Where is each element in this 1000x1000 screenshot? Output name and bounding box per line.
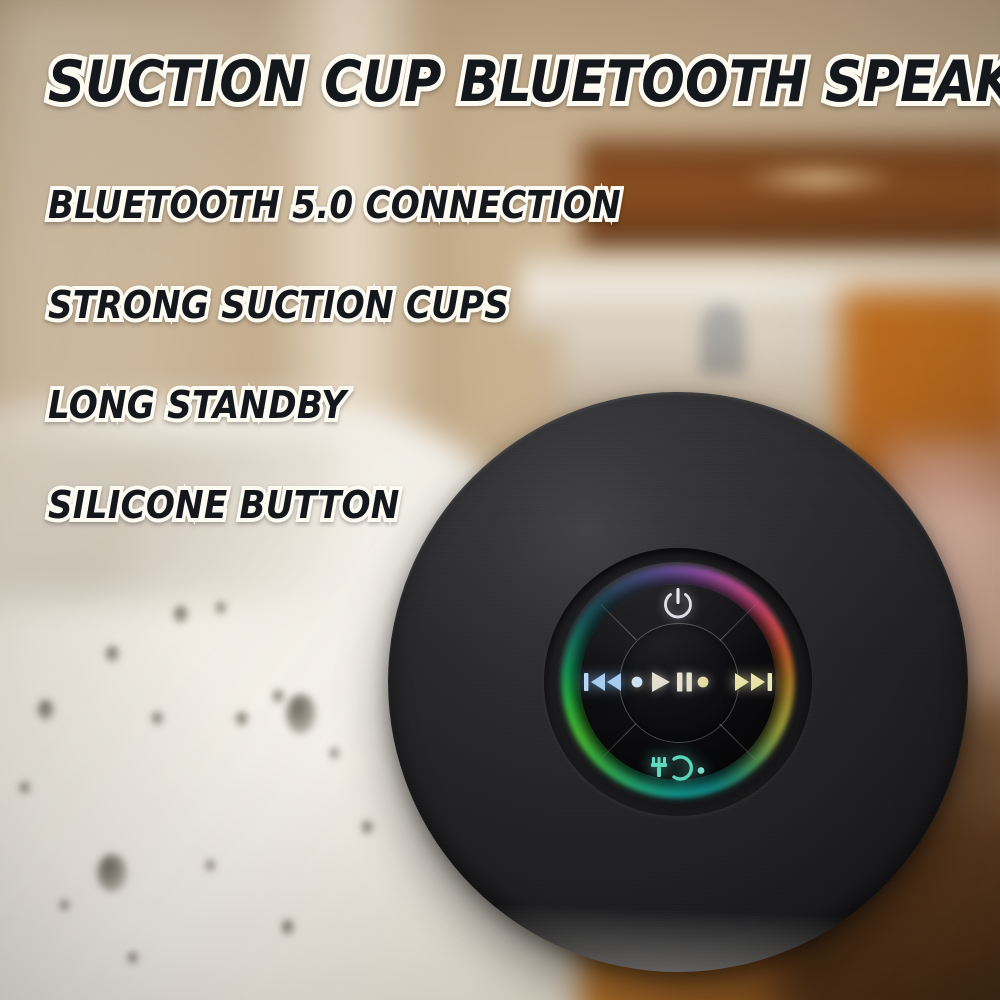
previous-track-button[interactable]	[579, 662, 627, 702]
water-droplet	[216, 602, 226, 614]
water-droplet	[152, 712, 163, 725]
power-button[interactable]	[655, 582, 701, 628]
next-track-icon	[733, 671, 773, 693]
product-banner: SUCTION CUP BLUETOOTH SPEAKER BLUETOOTH …	[0, 0, 1000, 1000]
water-droplet	[20, 782, 30, 794]
control-panel	[562, 566, 794, 798]
feature-label: BLUETOOTH 5.0 CONNECTION	[48, 186, 621, 224]
feature-list: BLUETOOTH 5.0 CONNECTION STRONG SUCTION …	[48, 155, 978, 555]
previous-track-icon	[583, 671, 623, 693]
play-pause-icon	[630, 669, 726, 695]
page-title: SUCTION CUP BLUETOOTH SPEAKER	[48, 54, 885, 111]
list-item: LONG STANDBY	[48, 355, 978, 455]
next-track-button[interactable]	[729, 662, 777, 702]
marketing-copy: SUCTION CUP BLUETOOTH SPEAKER BLUETOOTH …	[48, 54, 978, 555]
play-pause-button[interactable]	[623, 662, 733, 702]
water-droplet	[128, 952, 138, 964]
water-droplet	[206, 860, 215, 871]
water-droplet	[60, 900, 69, 911]
water-droplet	[330, 748, 339, 759]
water-droplet	[362, 821, 373, 834]
water-droplet	[286, 694, 316, 734]
water-droplet	[174, 606, 188, 623]
microphone-call-icon	[643, 754, 713, 782]
list-item: STRONG SUCTION CUPS	[48, 255, 978, 355]
water-droplet	[236, 712, 248, 726]
panel-divider-se	[600, 723, 636, 759]
water-droplet	[282, 920, 294, 935]
panel-divider-nw	[719, 604, 755, 640]
list-item: BLUETOOTH 5.0 CONNECTION	[48, 155, 978, 255]
feature-label: STRONG SUCTION CUPS	[48, 286, 509, 324]
power-icon	[661, 587, 695, 623]
call-button[interactable]	[635, 748, 721, 788]
panel-divider-sw	[719, 723, 755, 759]
panel-divider-ne	[600, 604, 636, 640]
water-droplet	[97, 854, 127, 892]
water-droplet	[38, 700, 54, 720]
list-item: SILICONE BUTTON	[48, 455, 978, 555]
water-droplet	[106, 646, 119, 662]
feature-label: SILICONE BUTTON	[48, 486, 400, 524]
control-panel-recess	[544, 548, 812, 816]
feature-label: LONG STANDBY	[48, 386, 346, 424]
water-droplet	[273, 690, 284, 703]
